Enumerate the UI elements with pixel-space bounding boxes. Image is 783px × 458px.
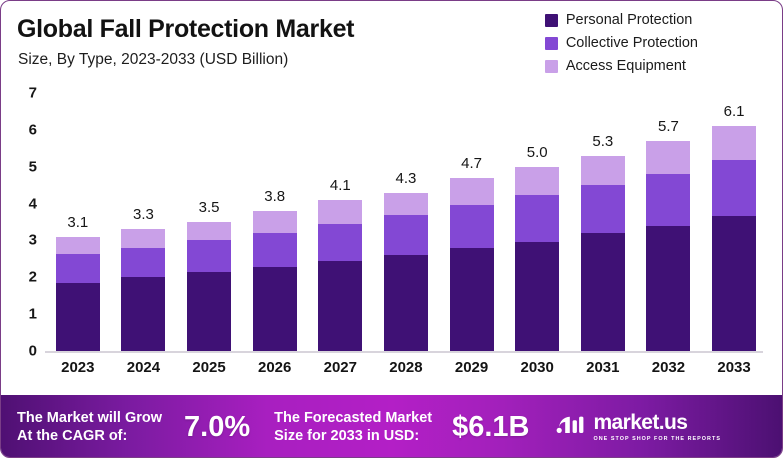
bar-segment[interactable]: [712, 160, 756, 216]
x-axis-tick-label: 2024: [121, 359, 165, 389]
legend-item-label: Access Equipment: [566, 58, 686, 74]
bar-segment[interactable]: [450, 205, 494, 247]
bar-segment[interactable]: [581, 185, 625, 233]
bar-group[interactable]: 5.0: [515, 93, 559, 351]
bar-total-label: 3.3: [133, 206, 154, 223]
legend-item-label: Personal Protection: [566, 12, 693, 28]
bar-total-label: 5.3: [592, 133, 613, 150]
logo-name: market.us: [593, 412, 721, 433]
bar-segment[interactable]: [253, 211, 297, 233]
bar-segment[interactable]: [646, 141, 690, 174]
y-axis-tick-label: 5: [29, 158, 37, 175]
chart-header: Global Fall Protection Market Size, By T…: [1, 1, 783, 93]
market-us-logo-text: market.us ONE STOP SHOP FOR THE REPORTS: [593, 412, 721, 442]
footer-cagr-caption-line2: At the CAGR of:: [17, 427, 162, 445]
bar-stack: [712, 126, 756, 351]
bar-segment[interactable]: [121, 248, 165, 277]
bar-segment[interactable]: [515, 167, 559, 195]
x-axis-tick-label: 2028: [384, 359, 428, 389]
y-axis: 01234567: [1, 93, 45, 355]
bar-total-label: 4.7: [461, 155, 482, 172]
bar-total-label: 5.0: [527, 144, 548, 161]
bar-stack: [253, 211, 297, 351]
bar-segment[interactable]: [384, 215, 428, 256]
bar-series-container: 3.13.33.53.84.14.34.75.05.35.76.1: [45, 93, 767, 351]
x-axis-tick-label: 2026: [253, 359, 297, 389]
chart-plot-area: 01234567 3.13.33.53.84.14.34.75.05.35.76…: [1, 93, 783, 395]
x-axis-baseline: [45, 351, 763, 353]
y-axis-tick-label: 1: [29, 306, 37, 323]
market-us-logo: market.us ONE STOP SHOP FOR THE REPORTS: [555, 412, 721, 442]
bar-segment[interactable]: [712, 216, 756, 351]
bar-stack: [646, 141, 690, 351]
chart-legend: Personal Protection Collective Protectio…: [545, 11, 698, 75]
legend-item-access-equipment: Access Equipment: [545, 57, 698, 75]
bar-segment[interactable]: [318, 200, 362, 224]
footer-forecast-caption-line2: Size for 2033 in USD:: [274, 427, 432, 445]
footer-forecast-caption-line1: The Forecasted Market: [274, 409, 432, 427]
logo-tagline: ONE STOP SHOP FOR THE REPORTS: [593, 436, 721, 442]
bar-segment[interactable]: [121, 229, 165, 247]
footer-banner: The Market will Grow At the CAGR of: 7.0…: [1, 395, 783, 458]
bar-segment[interactable]: [56, 254, 100, 283]
x-axis-tick-label: 2033: [712, 359, 756, 389]
y-axis-tick-label: 3: [29, 232, 37, 249]
bar-segment[interactable]: [318, 224, 362, 262]
bar-group[interactable]: 3.3: [121, 93, 165, 351]
y-axis-tick-label: 6: [29, 121, 37, 138]
legend-item-collective-protection: Collective Protection: [545, 34, 698, 52]
bar-group[interactable]: 3.5: [187, 93, 231, 351]
bar-total-label: 3.8: [264, 188, 285, 205]
x-axis-tick-label: 2027: [318, 359, 362, 389]
bar-segment[interactable]: [56, 237, 100, 254]
footer-forecast-caption: The Forecasted Market Size for 2033 in U…: [274, 409, 432, 445]
bar-stack: [515, 167, 559, 351]
footer-cagr-caption: The Market will Grow At the CAGR of:: [17, 409, 162, 445]
bar-group[interactable]: 4.1: [318, 93, 362, 351]
bar-segment[interactable]: [450, 248, 494, 351]
x-axis-tick-label: 2032: [646, 359, 690, 389]
bar-stack: [318, 200, 362, 351]
bar-stack: [121, 229, 165, 351]
market-us-logo-mark-icon: [555, 413, 585, 442]
legend-item-label: Collective Protection: [566, 35, 698, 51]
bar-total-label: 3.5: [199, 199, 220, 216]
bar-segment[interactable]: [187, 272, 231, 351]
bar-group[interactable]: 5.7: [646, 93, 690, 351]
bar-group[interactable]: 6.1: [712, 93, 756, 351]
bar-stack: [56, 237, 100, 351]
bar-stack: [450, 178, 494, 351]
x-axis-tick-label: 2031: [581, 359, 625, 389]
x-axis-tick-label: 2023: [56, 359, 100, 389]
x-axis: 2023202420252026202720282029203020312032…: [45, 359, 767, 389]
legend-swatch-icon: [545, 14, 558, 27]
bar-total-label: 6.1: [724, 103, 745, 120]
x-axis-tick-label: 2029: [450, 359, 494, 389]
footer-cagr-caption-line1: The Market will Grow: [17, 409, 162, 427]
legend-item-personal-protection: Personal Protection: [545, 11, 698, 29]
bar-segment[interactable]: [56, 283, 100, 351]
bar-segment[interactable]: [581, 156, 625, 185]
footer-forecast-value: $6.1B: [452, 411, 529, 444]
bar-segment[interactable]: [515, 242, 559, 351]
bar-total-label: 4.3: [396, 170, 417, 187]
bar-segment[interactable]: [515, 195, 559, 241]
bar-group[interactable]: 3.8: [253, 93, 297, 351]
page-title: Global Fall Protection Market: [17, 15, 354, 44]
y-axis-tick-label: 2: [29, 269, 37, 286]
bar-group[interactable]: 4.7: [450, 93, 494, 351]
bar-segment[interactable]: [646, 174, 690, 226]
bar-stack: [384, 193, 428, 351]
bar-stack: [581, 156, 625, 351]
legend-swatch-icon: [545, 60, 558, 73]
bar-group[interactable]: 3.1: [56, 93, 100, 351]
legend-swatch-icon: [545, 37, 558, 50]
y-axis-tick-label: 7: [29, 85, 37, 102]
bar-segment[interactable]: [318, 261, 362, 351]
bar-total-label: 4.1: [330, 177, 351, 194]
bar-segment[interactable]: [712, 126, 756, 160]
y-axis-tick-label: 4: [29, 195, 37, 212]
bar-segment[interactable]: [253, 233, 297, 267]
bar-group[interactable]: 5.3: [581, 93, 625, 351]
x-axis-tick-label: 2030: [515, 359, 559, 389]
footer-cagr-value: 7.0%: [184, 411, 250, 444]
bar-total-label: 3.1: [67, 214, 88, 231]
bar-segment[interactable]: [646, 226, 690, 351]
bar-segment[interactable]: [384, 255, 428, 351]
bar-segment[interactable]: [581, 233, 625, 351]
bar-segment[interactable]: [121, 277, 165, 351]
bar-stack: [187, 222, 231, 351]
bar-group[interactable]: 4.3: [384, 93, 428, 351]
y-axis-tick-label: 0: [29, 343, 37, 360]
bar-total-label: 5.7: [658, 118, 679, 135]
bar-segment[interactable]: [187, 222, 231, 240]
x-axis-tick-label: 2025: [187, 359, 231, 389]
bar-segment[interactable]: [253, 267, 297, 351]
chart-subtitle: Size, By Type, 2023-2033 (USD Billion): [18, 51, 288, 69]
bar-segment[interactable]: [384, 193, 428, 215]
bar-segment[interactable]: [450, 178, 494, 206]
chart-card: Global Fall Protection Market Size, By T…: [0, 0, 783, 458]
bar-segment[interactable]: [187, 240, 231, 271]
